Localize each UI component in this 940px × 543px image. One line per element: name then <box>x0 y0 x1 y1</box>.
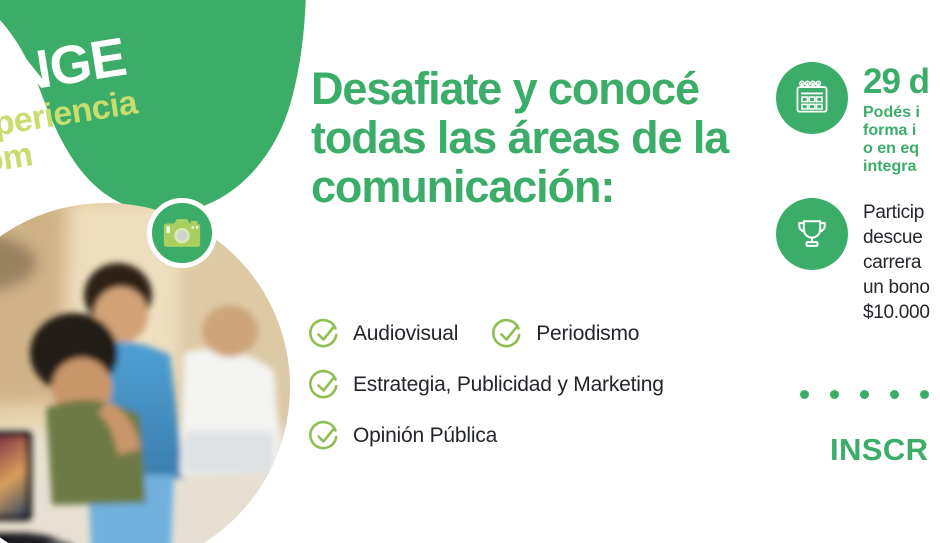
checklist-row: Estrategia, Publicidad y Marketing <box>309 369 779 401</box>
list-item-label: Opinión Pública <box>353 424 497 448</box>
date-info-text: 29 d Podés i forma i o en eq integra <box>863 62 929 176</box>
areas-checklist: Audiovisual Periodismo <box>309 318 779 471</box>
date-detail-line-2: forma i <box>863 122 929 140</box>
list-item-label: Periodismo <box>536 322 639 346</box>
photo-circle <box>0 203 290 543</box>
prize-line-2: descue <box>863 225 930 250</box>
prize-info-block: Particip descue carrera un bono $10.000 <box>776 198 940 324</box>
info-sidebar: 29 d Podés i forma i o en eq integra Par… <box>776 62 940 346</box>
page-title: Desafiate y conocé todas las áreas de la… <box>311 64 731 211</box>
list-item: Periodismo <box>492 318 639 350</box>
divider-dot <box>920 390 929 399</box>
prize-line-3: carrera <box>863 250 930 275</box>
list-item: Opinión Pública <box>309 420 497 452</box>
divider-dot <box>860 390 869 399</box>
divider-dot <box>800 390 809 399</box>
date-detail-line-1: Podés i <box>863 104 929 122</box>
check-circle-icon <box>309 318 341 350</box>
inscribite-cta[interactable]: INSCR <box>830 432 928 468</box>
checklist-row: Opinión Pública <box>309 420 779 452</box>
list-item-label: Estrategia, Publicidad y Marketing <box>353 373 664 397</box>
trophy-icon <box>776 198 848 270</box>
checklist-row: Audiovisual Periodismo <box>309 318 779 350</box>
check-circle-icon <box>492 318 524 350</box>
list-item-label: Audiovisual <box>353 322 458 346</box>
date-detail-line-3: o en eq <box>863 140 929 158</box>
poster-canvas: LENGE Experiencia Com <box>0 0 940 543</box>
date-info-block: 29 d Podés i forma i o en eq integra <box>776 62 940 176</box>
prize-line-1: Particip <box>863 200 930 225</box>
prize-line-5: $10.000 <box>863 300 930 325</box>
check-circle-icon <box>309 420 341 452</box>
camera-badge <box>147 198 217 268</box>
divider-dot <box>830 390 839 399</box>
list-item: Audiovisual <box>309 318 458 350</box>
prize-info-text: Particip descue carrera un bono $10.000 <box>863 198 930 324</box>
calendar-icon <box>776 62 848 134</box>
list-item: Estrategia, Publicidad y Marketing <box>309 369 664 401</box>
camera-icon <box>163 216 201 250</box>
date-detail-line-4: integra <box>863 158 929 176</box>
check-circle-icon <box>309 369 341 401</box>
event-date: 29 d <box>863 64 929 99</box>
dotted-divider <box>800 390 940 399</box>
divider-dot <box>890 390 899 399</box>
prize-line-4: un bono <box>863 275 930 300</box>
